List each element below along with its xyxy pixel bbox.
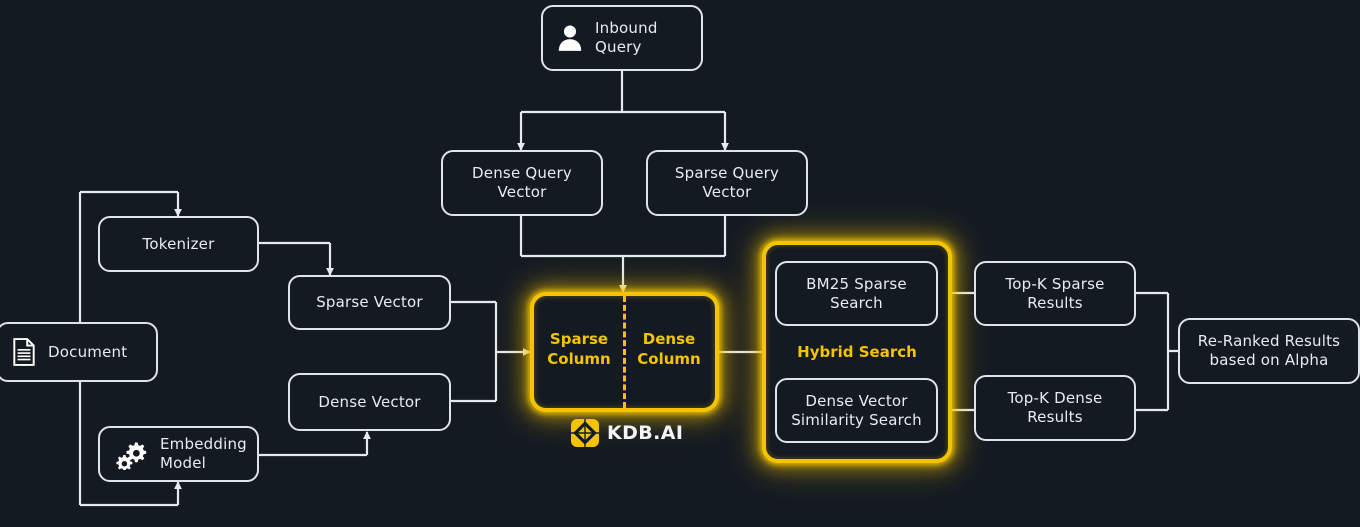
node-sparse-vector[interactable]: Sparse Vector [288, 275, 451, 330]
node-dense-vector-similarity-search-label: Dense Vector Similarity Search [791, 392, 922, 430]
node-sparse-vector-label: Sparse Vector [316, 293, 423, 312]
node-reranked-results-label: Re-Ranked Results based on Alpha [1198, 332, 1340, 370]
node-dense-vector-similarity-search[interactable]: Dense Vector Similarity Search [775, 378, 938, 443]
node-sparse-query-vector[interactable]: Sparse Query Vector [646, 150, 808, 216]
node-inbound-query-label: Inbound Query [595, 19, 658, 57]
hybrid-search-label: Hybrid Search [766, 343, 948, 361]
node-embedding-model[interactable]: Embedding Model [98, 426, 259, 482]
node-dense-query-vector[interactable]: Dense Query Vector [441, 150, 603, 216]
node-sparse-query-vector-label: Sparse Query Vector [675, 164, 779, 202]
node-topk-dense-results-label: Top-K Dense Results [1008, 389, 1103, 427]
node-dense-vector[interactable]: Dense Vector [288, 373, 451, 431]
column-divider [623, 296, 626, 408]
node-topk-sparse-results[interactable]: Top-K Sparse Results [974, 261, 1136, 326]
sparse-column-label: Sparse Column [540, 330, 618, 369]
node-inbound-query[interactable]: Inbound Query [541, 5, 703, 71]
node-bm25-sparse-search[interactable]: BM25 Sparse Search [775, 261, 938, 326]
document-icon [12, 338, 36, 366]
node-topk-sparse-results-label: Top-K Sparse Results [1005, 275, 1104, 313]
node-dense-query-vector-label: Dense Query Vector [472, 164, 572, 202]
dense-column-label: Dense Column [630, 330, 708, 369]
node-topk-dense-results[interactable]: Top-K Dense Results [974, 375, 1136, 441]
node-embedding-model-label: Embedding Model [160, 435, 247, 473]
kdbai-logo: KDB.AI [570, 418, 683, 448]
gears-icon [114, 438, 148, 470]
user-icon [557, 24, 583, 52]
diagram-canvas: Inbound Query Dense Query Vector Sparse … [0, 0, 1360, 527]
node-dense-vector-label: Dense Vector [318, 393, 420, 412]
kdbai-logo-text: KDB.AI [607, 422, 683, 444]
kdbai-diamond-icon [570, 418, 600, 448]
node-reranked-results[interactable]: Re-Ranked Results based on Alpha [1178, 318, 1360, 384]
node-bm25-sparse-search-label: BM25 Sparse Search [806, 275, 907, 313]
node-tokenizer-label: Tokenizer [143, 235, 215, 254]
node-document-label: Document [48, 343, 127, 362]
node-document[interactable]: Document [0, 322, 158, 382]
node-tokenizer[interactable]: Tokenizer [98, 216, 259, 272]
